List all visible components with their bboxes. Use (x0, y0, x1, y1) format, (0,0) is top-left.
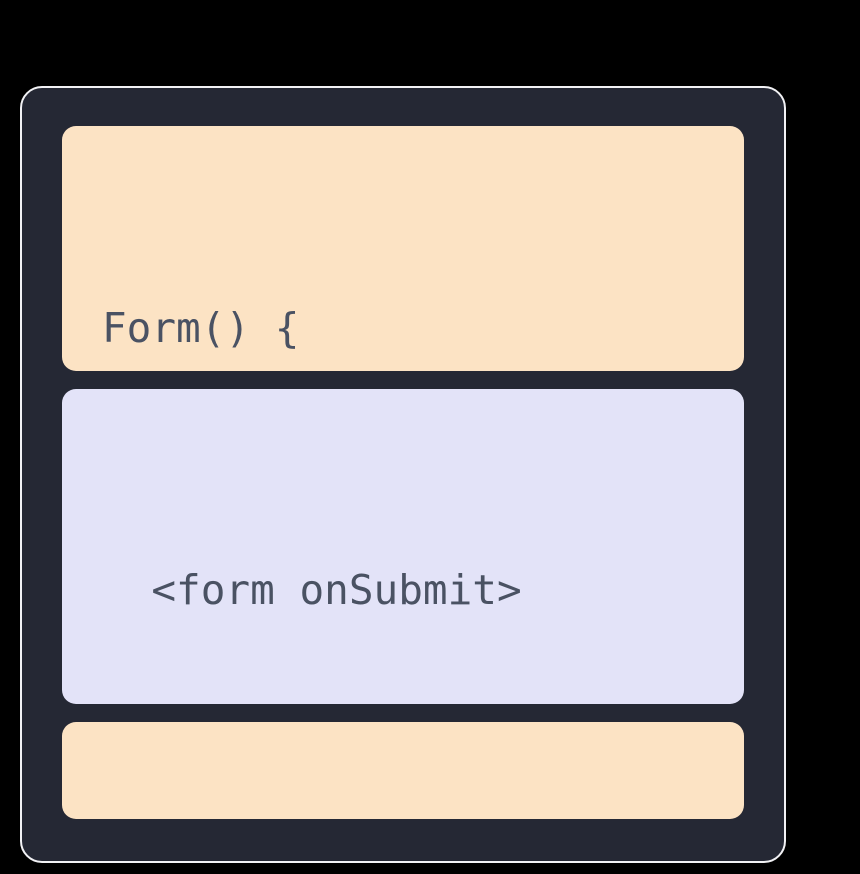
code-line: <form onSubmit> (62, 553, 744, 628)
code-segment-markup-body: <form onSubmit> <input onClick /> <input… (62, 389, 744, 704)
screenshot-stage: Form() { onClick() {...} onSubmit() {...… (0, 0, 860, 874)
code-line: Form() { (62, 291, 744, 366)
code-segment-component-body: Form() { onClick() {...} onSubmit() {...… (62, 126, 744, 371)
code-segment-closing-brace: } (62, 722, 744, 819)
code-card: Form() { onClick() {...} onSubmit() {...… (20, 86, 786, 863)
